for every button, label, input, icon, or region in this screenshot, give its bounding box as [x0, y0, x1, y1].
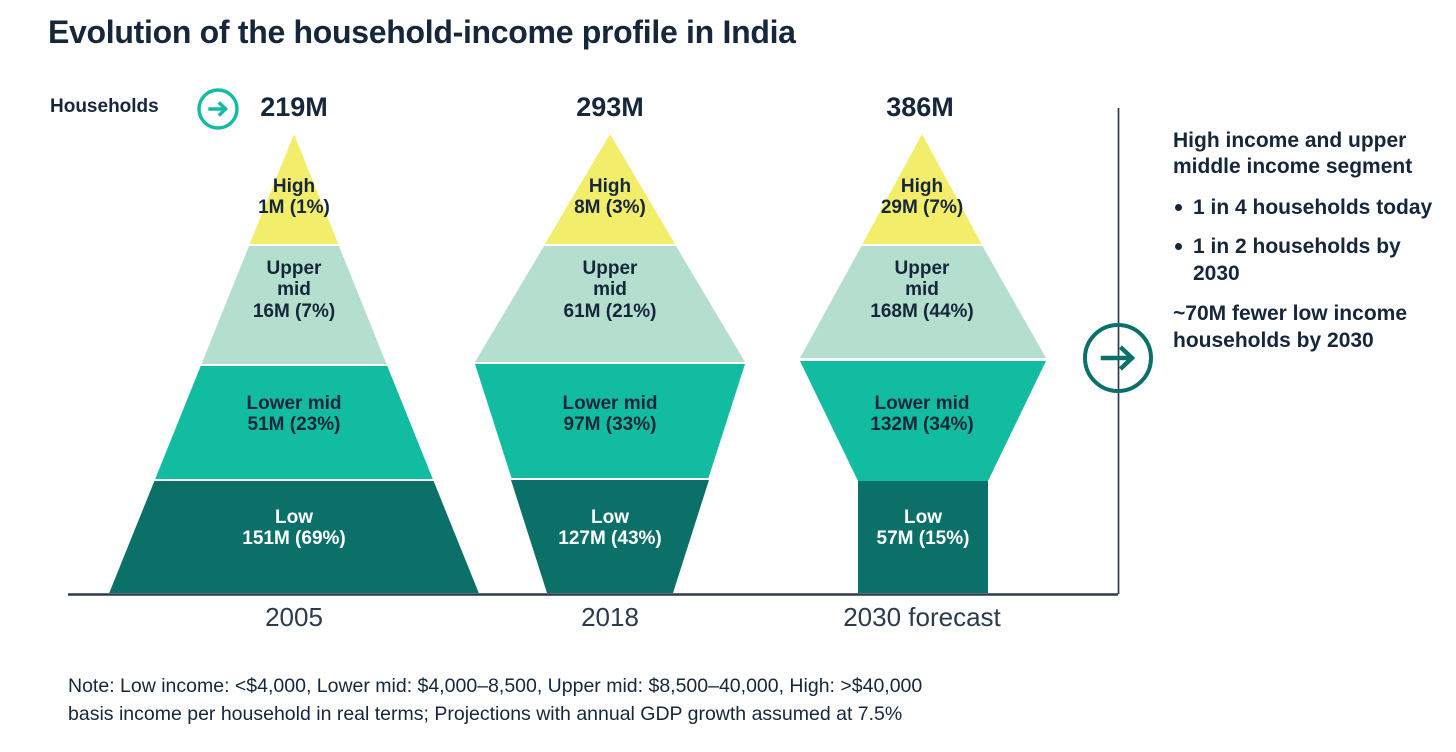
segment-label-2005-low: Low 151M (69%): [194, 507, 394, 550]
x-axis-label-2005: 2005: [144, 602, 444, 633]
arrow-right-circle-icon: [1079, 319, 1157, 397]
segment-label-2005-high: High 1M (1%): [214, 176, 374, 219]
chart-note: Note: Low income: <$4,000, Lower mid: $4…: [68, 672, 1248, 729]
annotation-bullet-1-text: 1 in 4 households today: [1193, 195, 1432, 221]
bullet-dot-icon: [1175, 243, 1182, 250]
segment-label-2005-lower-mid: Lower mid 51M (23%): [194, 393, 394, 436]
segment-label-2018-lower-mid: Lower mid 97M (33%): [510, 393, 710, 436]
infographic-root: Evolution of the household-income profil…: [0, 0, 1456, 752]
segment-label-2030-lower-mid: Lower mid 132M (34%): [822, 393, 1022, 436]
annotation-bullet-2-text: 1 in 2 households by 2030: [1193, 234, 1449, 287]
segment-label-2030-low: Low 57M (15%): [823, 507, 1023, 550]
segment-label-2018-upper-mid: Upper mid 61M (21%): [520, 258, 700, 322]
annotation-heading: High income and upper middle income segm…: [1173, 128, 1449, 181]
segment-label-2005-upper-mid: Upper mid 16M (7%): [204, 258, 384, 322]
annotation-bullet-2: 1 in 2 households by 2030: [1173, 234, 1449, 287]
bullet-dot-icon: [1175, 204, 1182, 211]
chart-note-line-2: basis income per household in real terms…: [68, 700, 1248, 728]
segment-label-2030-high: High 29M (7%): [842, 176, 1002, 219]
chart-note-line-1: Note: Low income: <$4,000, Lower mid: $4…: [68, 672, 1248, 700]
segment-label-2030-upper-mid: Upper mid 168M (44%): [832, 258, 1012, 322]
segment-label-2018-low: Low 127M (43%): [510, 507, 710, 550]
segment-label-2018-high: High 8M (3%): [530, 176, 690, 219]
annotation-footer: ~70M fewer low income households by 2030: [1173, 301, 1449, 354]
annotation-panel: High income and upper middle income segm…: [1173, 128, 1449, 354]
x-axis-label-2018: 2018: [460, 602, 760, 633]
annotation-bullet-1: 1 in 4 households today: [1173, 195, 1449, 221]
x-axis-label-2030: 2030 forecast: [772, 602, 1072, 633]
